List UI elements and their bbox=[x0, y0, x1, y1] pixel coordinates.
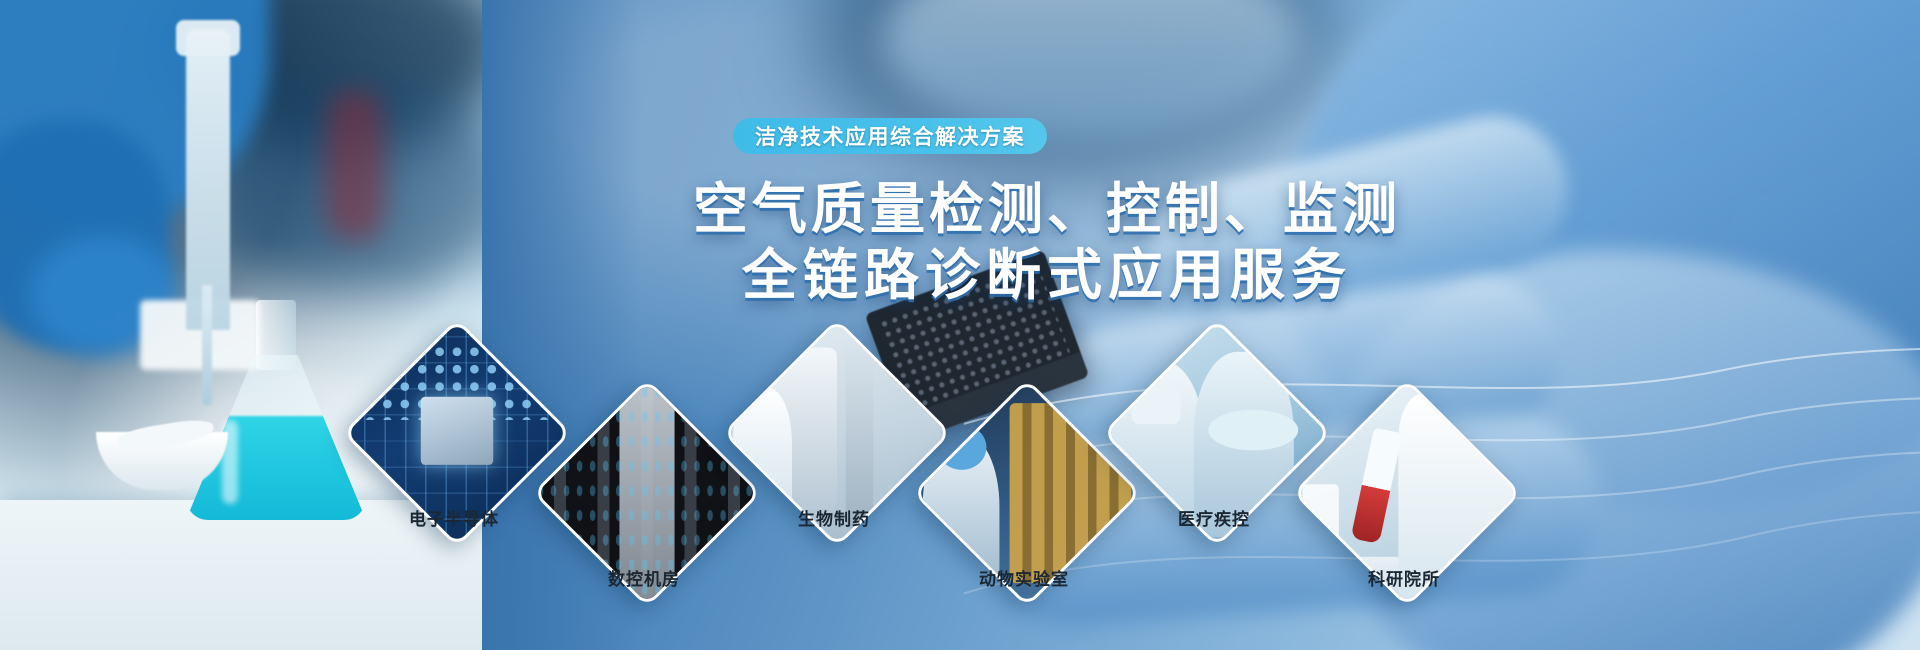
industry-card-label: 医疗疾控 bbox=[1139, 505, 1289, 530]
beaker-icon bbox=[1303, 484, 1339, 565]
chip-die bbox=[421, 397, 493, 465]
industry-card-label: 生物制药 bbox=[759, 505, 909, 530]
industry-card-label: 数控机房 bbox=[569, 565, 719, 590]
pharma-pipe bbox=[846, 338, 873, 528]
face-mask-icon bbox=[1131, 388, 1181, 424]
industry-card-list: 电子半导体 数控机房 生物制药 bbox=[0, 0, 1920, 650]
blood-sample-tube-icon bbox=[1350, 428, 1402, 545]
industry-card-label: 动物实验室 bbox=[949, 565, 1099, 590]
industry-card-label: 电子半导体 bbox=[379, 505, 529, 530]
hero-banner: 洁净技术应用综合解决方案 空气质量检测、控制、监测 全链路诊断式应用服务 电子半… bbox=[0, 0, 1920, 650]
industry-card-label: 科研院所 bbox=[1329, 565, 1479, 590]
